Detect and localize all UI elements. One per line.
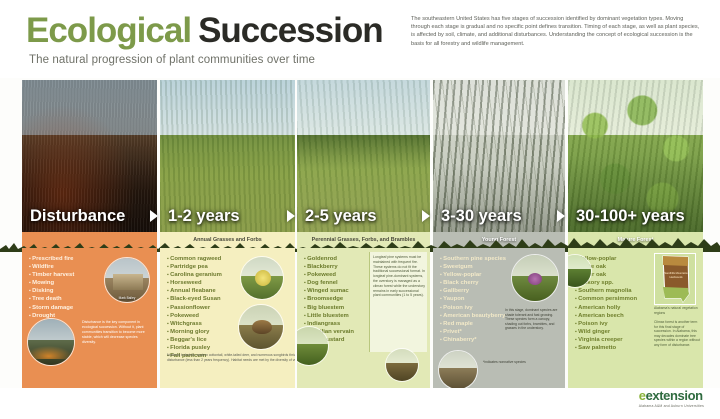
vegetation-type-band: Annual Grasses and Forbs Perennial Grass…	[0, 232, 720, 248]
list-item: Black cherry	[440, 279, 506, 287]
list-item: Chinaberry*	[440, 336, 506, 344]
detail-column-mature-forest: Yellow-poplar White oak Water oak Hickor…	[568, 248, 703, 388]
list-item: Privet*	[440, 328, 506, 336]
stage-label-1: 1-2 years	[168, 207, 240, 226]
list-item: Storm damage	[29, 304, 74, 312]
stage-photo-strip: Disturbance 1-2 years 2-5 years	[0, 80, 720, 232]
list-item: Mowing	[29, 279, 74, 287]
inset-sky	[28, 319, 74, 342]
list-item: Pokeweed	[167, 312, 222, 320]
detail-column-annual-grasses: Common ragweed Partridge pea Carolina ge…	[160, 248, 295, 388]
inset-photo-blackberry	[297, 326, 329, 366]
list-item: Virginia creeper	[575, 336, 637, 344]
extension-logo[interactable]: eextension Alabama A&M and Auburn Univer…	[639, 388, 704, 408]
alabama-map-caption: Alabama's natural vegetation regions	[654, 306, 698, 315]
extension-logo-text: eextension	[639, 388, 704, 403]
poster-footer: eextension Alabama A&M and Auburn Univer…	[0, 388, 720, 419]
stage-arrow-2-icon	[287, 210, 295, 222]
list-item: Red maple	[440, 320, 506, 328]
list-item: Witchgrass	[167, 320, 222, 328]
list-item: Carolina geranium	[167, 271, 222, 279]
detail-column-young-forest: Southern pine species Sweetgum Yellow-po…	[433, 248, 565, 388]
stage-photo-3-30-years: 3-30 years	[433, 80, 565, 232]
list-item: American holly	[575, 304, 637, 312]
poster-header: EcologicalSuccession The natural progres…	[0, 0, 720, 78]
page-subtitle: The natural progression of plant communi…	[29, 54, 315, 66]
inset-logs	[113, 274, 143, 290]
list-item: Wildfire	[29, 263, 74, 271]
list-item: Horseweed	[167, 279, 222, 287]
veg-label-1: Annual Grasses and Forbs	[193, 237, 262, 243]
stage-arrow-1-icon	[150, 210, 158, 222]
veg-label-2: Perennial Grasses, Forbs, and Brambles	[312, 237, 416, 243]
veg-cell-4: Mature Forest	[568, 232, 703, 248]
list-item: Partridge pea	[167, 263, 222, 271]
stage-photo-2-5-years: 2-5 years	[297, 80, 430, 232]
alabama-map-label: Sandhills Mountains Hardwoods	[659, 272, 693, 279]
veg-cell-2: Perennial Grasses, Forbs, and Brambles	[297, 232, 430, 248]
inset-photo-prescribed-fire	[27, 318, 75, 366]
stage-photo-disturbance: Disturbance	[22, 80, 157, 232]
annual-grasses-list: Common ragweed Partridge pea Carolina ge…	[167, 255, 222, 360]
list-item: American beech	[575, 312, 637, 320]
inset-photo-pine-seedling	[385, 348, 419, 382]
young-forest-footnote: In this stage, dominant species are shad…	[505, 308, 561, 331]
inset-photo-partridge-pea	[240, 256, 284, 300]
list-item: Winged sumac	[304, 287, 354, 295]
logo-wordmark: extension	[646, 388, 703, 403]
veg-label-3: Young Forest	[482, 237, 516, 243]
list-item: Dog fennel	[304, 279, 354, 287]
extension-logo-subtitle: Alabama A&M and Auburn Universities	[639, 404, 704, 408]
list-item: Little bluestem	[304, 312, 354, 320]
title-word-succession: Succession	[191, 11, 383, 50]
inset-bird	[252, 320, 272, 334]
list-item: Morning glory	[167, 328, 222, 336]
list-item: American beautyberry	[440, 312, 506, 320]
list-item: Wild ginger	[575, 328, 637, 336]
title-word-ecological: Ecological	[26, 11, 191, 50]
stage-label-2: 2-5 years	[305, 207, 377, 226]
list-item: Pokeweed	[304, 271, 354, 279]
stage-label-4: 30-100+ years	[576, 207, 685, 226]
disturbance-list: Prescribed fire Wildfire Timber harvest …	[29, 255, 74, 320]
stage-photo-1-2-years: 1-2 years	[160, 80, 295, 232]
list-item: Black-eyed Susan	[167, 295, 222, 303]
inset-photo-bobwhite-quail	[238, 304, 284, 350]
stage-arrow-4-icon	[557, 210, 565, 222]
list-item: Blackberry	[304, 263, 354, 271]
page-title: EcologicalSuccession	[26, 12, 383, 50]
list-item: Beggar's lice	[167, 336, 222, 344]
inset-photo-beautyberry	[511, 254, 559, 302]
list-item: Goldenrod	[304, 255, 354, 263]
logo-mark-icon: e	[639, 388, 646, 403]
mature-forest-footnote: Climax forest is another term for this f…	[654, 320, 700, 348]
list-item: Gallberry	[440, 287, 506, 295]
stage-label-3: 3-30 years	[441, 207, 522, 226]
poster-canvas: EcologicalSuccession The natural progres…	[0, 0, 720, 419]
inset-berries	[528, 273, 542, 285]
list-item: Common ragweed	[167, 255, 222, 263]
stage-label-0: Disturbance	[30, 207, 125, 226]
nonnative-legend: *indicates nonnative species	[483, 360, 533, 365]
inset-ground	[439, 368, 477, 388]
list-item: Timber harvest	[29, 271, 74, 279]
young-forest-list: Southern pine species Sweetgum Yellow-po…	[440, 255, 506, 344]
list-item: Saw palmetto	[575, 344, 637, 352]
stage-arrow-3-icon	[422, 210, 430, 222]
intro-paragraph: The southeastern United States has five …	[411, 15, 701, 48]
list-item: Poison ivy	[575, 320, 637, 328]
inset-ground	[568, 269, 591, 287]
list-item: Prescribed fire	[29, 255, 74, 263]
list-item: Broomsedge	[304, 295, 354, 303]
inset-flames	[28, 345, 74, 359]
list-item: Poison ivy	[440, 304, 506, 312]
longleaf-note-box: Longleaf pine systems must be maintained…	[369, 252, 427, 352]
veg-cell-1: Annual Grasses and Forbs	[160, 232, 295, 248]
annual-grasses-footnote: Northern bobwhite, eastern cottontail, w…	[167, 353, 295, 362]
longleaf-note-text: Longleaf pine systems must be maintained…	[373, 255, 425, 298]
list-item: Tree death	[29, 295, 74, 303]
stage-detail-columns: Prescribed fire Wildfire Timber harvest …	[0, 248, 720, 388]
list-item: Florida pusley	[167, 344, 222, 352]
stage-photo-30-100-years: 30-100+ years	[568, 80, 703, 232]
list-item: Disking	[29, 287, 74, 295]
disturbance-caption: Disturbance is the key component in ecol…	[82, 320, 152, 345]
list-item: Southern magnolia	[575, 287, 637, 295]
list-item: Sweetgum	[440, 263, 506, 271]
inset-flower	[255, 270, 271, 286]
inset-photo-mature-canopy	[568, 254, 592, 288]
list-item: Yaupon	[440, 295, 506, 303]
veg-label-4: Mature Forest	[618, 237, 654, 243]
list-item: Passionflower	[167, 304, 222, 312]
list-item: Big bluestem	[304, 304, 354, 312]
alabama-vegetation-map: Sandhills Mountains Hardwoods	[654, 253, 696, 305]
alabama-map-icon	[655, 254, 697, 306]
inset-photo-deer	[438, 350, 478, 388]
inset-photo-timber-harvest: Mark Bailey	[104, 257, 150, 303]
list-item: Annual fleabane	[167, 287, 222, 295]
detail-column-perennial-grasses: Goldenrod Blackberry Pokeweed Dog fennel…	[297, 248, 430, 388]
list-item: Common persimmon	[575, 295, 637, 303]
veg-cell-3: Young Forest	[433, 232, 565, 248]
veg-cell-0	[22, 232, 157, 248]
list-item: Yellow-poplar	[440, 271, 506, 279]
inset-ground	[297, 344, 328, 365]
detail-column-disturbance: Prescribed fire Wildfire Timber harvest …	[22, 248, 157, 388]
list-item: Southern pine species	[440, 255, 506, 263]
inset-ground	[386, 363, 418, 381]
inset-credit: Mark Bailey	[105, 296, 149, 300]
